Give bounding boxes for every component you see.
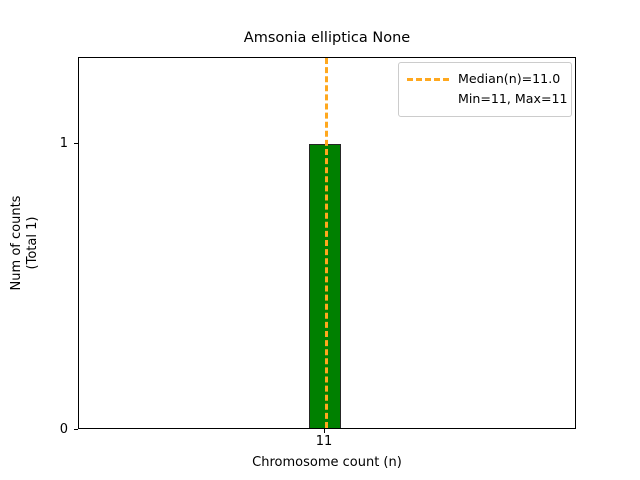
chart-figure: Amsonia elliptica None 0 1 11 Chromosome…	[0, 0, 640, 480]
y-axis-label-line-2: (Total 1)	[25, 196, 41, 291]
x-tick-label-11: 11	[316, 435, 333, 448]
median-line	[325, 58, 328, 428]
y-axis-label-line-1: Num of counts	[9, 196, 25, 291]
dashed-line-icon	[407, 78, 449, 81]
legend-entry-median: Median(n)=11.0	[407, 69, 563, 89]
chart-title: Amsonia elliptica None	[78, 30, 576, 46]
y-tick-mark-0	[74, 429, 78, 430]
legend[interactable]: Median(n)=11.0 Min=11, Max=11	[398, 62, 572, 117]
y-axis-label: Num of counts (Total 1)	[9, 196, 42, 291]
x-tick-mark-11	[324, 429, 325, 433]
legend-entry-minmax: Min=11, Max=11	[407, 89, 563, 109]
y-tick-label-1: 1	[60, 137, 68, 150]
x-axis-label: Chromosome count (n)	[78, 455, 576, 470]
y-axis-label-wrap: Num of counts (Total 1)	[0, 57, 50, 429]
y-tick-label-0: 0	[60, 423, 68, 436]
legend-label-minmax: Min=11, Max=11	[458, 93, 568, 106]
legend-label-median: Median(n)=11.0	[458, 73, 560, 86]
